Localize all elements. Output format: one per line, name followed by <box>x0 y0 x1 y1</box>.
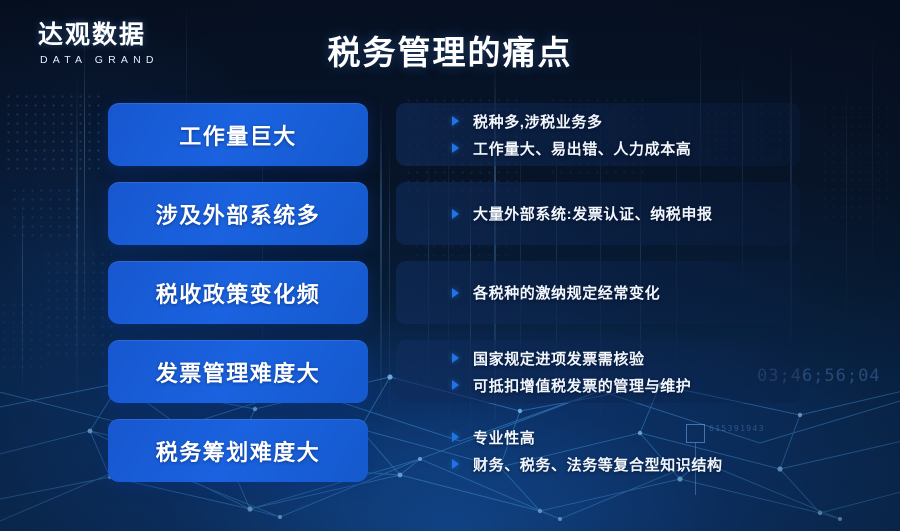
bullet-text: 大量外部系统:发票认证、纳税申报 <box>473 203 713 224</box>
bullet-item: 财务、税务、法务等复合型知识结构 <box>452 453 800 476</box>
bullet-text: 各税种的激纳规定经常变化 <box>473 282 660 303</box>
bullet-text: 工作量大、易出错、人力成本高 <box>473 138 691 159</box>
pain-point-chip-5[interactable]: 税务筹划难度大 <box>108 419 368 482</box>
slide-root: 03;46;56;04 615391943 达观数据 DATA GRAND 税务… <box>0 0 900 531</box>
bullet-item: 大量外部系统:发票认证、纳税申报 <box>452 202 800 225</box>
bullet-text: 可抵扣增值税发票的管理与维护 <box>473 375 691 396</box>
bullet-text: 专业性高 <box>473 427 535 448</box>
chip-label: 涉及外部系统多 <box>156 198 321 230</box>
bullet-item: 税种多,涉税业务多 <box>452 110 800 133</box>
bullet-item: 各税种的激纳规定经常变化 <box>452 281 800 304</box>
content-row: 发票管理难度大 国家规定进项发票需核验 可抵扣增值税发票的管理与维护 <box>0 340 900 403</box>
triangle-bullet-icon <box>452 288 459 298</box>
detail-panel-4: 国家规定进项发票需核验 可抵扣增值税发票的管理与维护 <box>396 340 800 403</box>
content-row: 涉及外部系统多 大量外部系统:发票认证、纳税申报 <box>0 182 900 245</box>
content-row: 税务筹划难度大 专业性高 财务、税务、法务等复合型知识结构 <box>0 419 900 482</box>
bullet-item: 国家规定进项发票需核验 <box>452 347 800 370</box>
detail-panel-5: 专业性高 财务、税务、法务等复合型知识结构 <box>396 419 800 482</box>
bullet-item: 可抵扣增值税发票的管理与维护 <box>452 374 800 397</box>
triangle-bullet-icon <box>452 353 459 363</box>
triangle-bullet-icon <box>452 143 459 153</box>
chip-label: 税务筹划难度大 <box>156 435 321 467</box>
pain-point-chip-2[interactable]: 涉及外部系统多 <box>108 182 368 245</box>
pain-point-chip-1[interactable]: 工作量巨大 <box>108 103 368 166</box>
chip-label: 发票管理难度大 <box>156 356 321 388</box>
bullet-text: 税种多,涉税业务多 <box>473 111 603 132</box>
content-row: 工作量巨大 税种多,涉税业务多 工作量大、易出错、人力成本高 <box>0 103 900 166</box>
content-board: 工作量巨大 税种多,涉税业务多 工作量大、易出错、人力成本高 涉及外部系统多 <box>0 0 900 531</box>
detail-panel-1: 税种多,涉税业务多 工作量大、易出错、人力成本高 <box>396 103 800 166</box>
bullet-item: 工作量大、易出错、人力成本高 <box>452 137 800 160</box>
bullet-text: 财务、税务、法务等复合型知识结构 <box>473 454 723 475</box>
content-row: 税收政策变化频 各税种的激纳规定经常变化 <box>0 261 900 324</box>
triangle-bullet-icon <box>452 432 459 442</box>
triangle-bullet-icon <box>452 209 459 219</box>
chip-label: 工作量巨大 <box>179 119 297 151</box>
chip-label: 税收政策变化频 <box>156 277 321 309</box>
bullet-item: 专业性高 <box>452 426 800 449</box>
pain-point-chip-4[interactable]: 发票管理难度大 <box>108 340 368 403</box>
page-title: 税务管理的痛点 <box>0 26 900 74</box>
triangle-bullet-icon <box>452 459 459 469</box>
detail-panel-3: 各税种的激纳规定经常变化 <box>396 261 800 324</box>
triangle-bullet-icon <box>452 116 459 126</box>
detail-panel-2: 大量外部系统:发票认证、纳税申报 <box>396 182 800 245</box>
bullet-text: 国家规定进项发票需核验 <box>473 348 645 369</box>
triangle-bullet-icon <box>452 380 459 390</box>
pain-point-chip-3[interactable]: 税收政策变化频 <box>108 261 368 324</box>
